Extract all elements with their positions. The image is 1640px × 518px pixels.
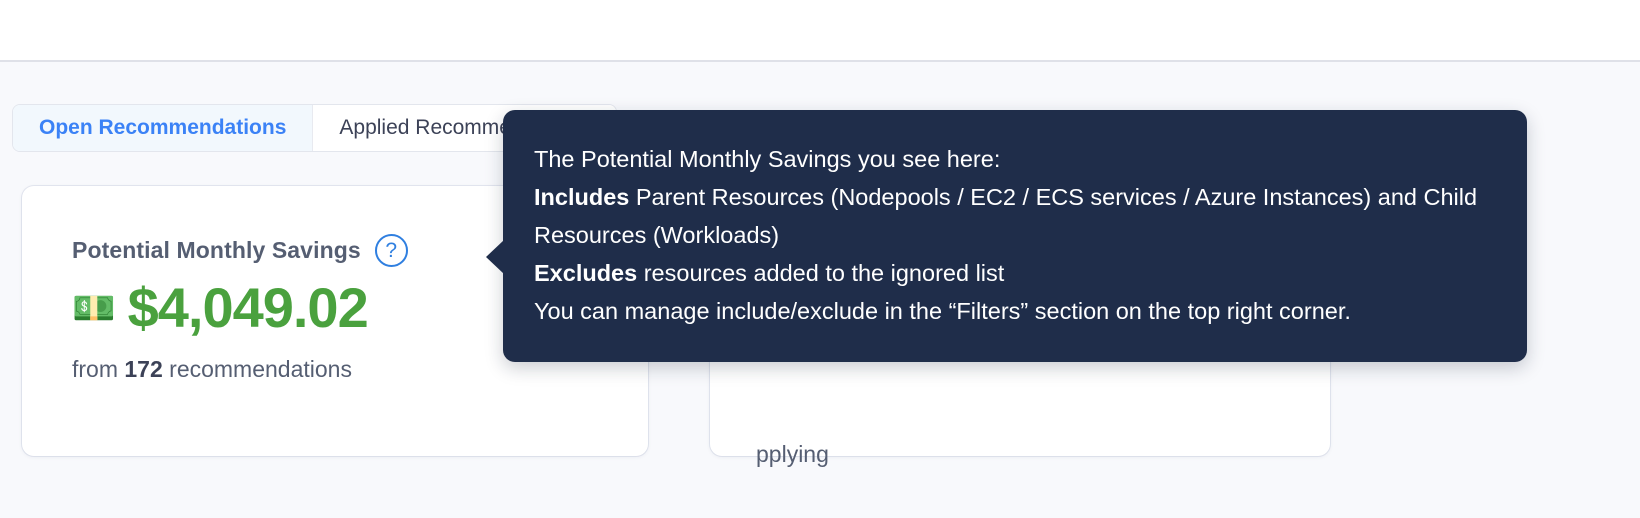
secondary-card-partial-text: pplying xyxy=(756,441,829,468)
savings-info-tooltip: The Potential Monthly Savings you see he… xyxy=(503,110,1527,362)
tooltip-line-3: Excludes resources added to the ignored … xyxy=(534,254,1493,292)
money-banknotes-icon: 💵 xyxy=(72,291,116,326)
top-header-bar xyxy=(0,0,1640,62)
question-mark-icon[interactable]: ? xyxy=(375,234,408,267)
tooltip-line-2: Includes Parent Resources (Nodepools / E… xyxy=(534,178,1493,254)
tooltip-arrow-icon xyxy=(486,240,504,274)
count-prefix: from xyxy=(72,356,124,382)
tooltip-line-2-rest: Parent Resources (Nodepools / EC2 / ECS … xyxy=(534,184,1477,248)
savings-amount: $4,049.02 xyxy=(128,279,368,338)
count-suffix: recommendations xyxy=(163,356,352,382)
tooltip-line-3-bold: Excludes xyxy=(534,260,637,286)
tooltip-line-2-bold: Includes xyxy=(534,184,629,210)
tooltip-line-4: You can manage include/exclude in the “F… xyxy=(534,292,1493,330)
tab-open-recommendations[interactable]: Open Recommendations xyxy=(13,105,313,151)
recommendations-count: 172 xyxy=(124,356,162,382)
tooltip-line-1: The Potential Monthly Savings you see he… xyxy=(534,140,1493,178)
tooltip-line-3-rest: resources added to the ignored list xyxy=(637,260,1004,286)
card-title: Potential Monthly Savings xyxy=(72,237,361,264)
